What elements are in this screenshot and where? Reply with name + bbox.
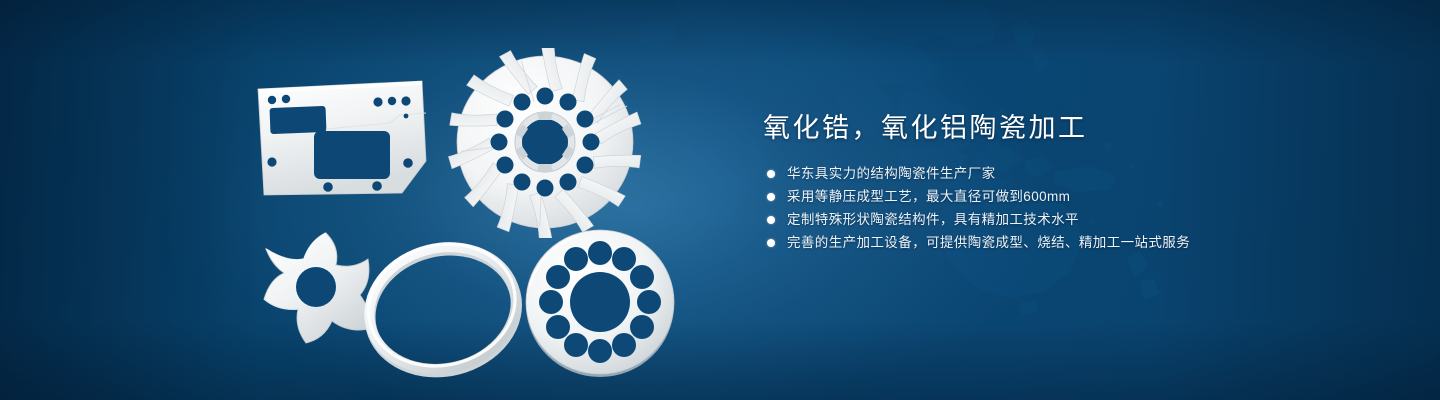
promo-banner: 氧化锆，氧化铝陶瓷加工 华东具实力的结构陶瓷件生产厂家 采用等静压成型工艺，最大… — [0, 0, 1440, 400]
ceramic-disc-image — [520, 225, 680, 380]
feature-item-label: 完善的生产加工设备，可提供陶瓷成型、烧结、精加工一站式服务 — [787, 231, 1190, 254]
product-photo-cluster — [230, 40, 700, 380]
bullet-dot-icon — [767, 239, 775, 247]
ceramic-ring-image — [358, 235, 528, 385]
bullet-dot-icon — [767, 216, 775, 224]
feature-item: 完善的生产加工设备，可提供陶瓷成型、烧结、精加工一站式服务 — [767, 231, 1383, 254]
feature-item-label: 定制特殊形状陶瓷结构件，具有精加工技术水平 — [787, 208, 1079, 231]
feature-list: 华东具实力的结构陶瓷件生产厂家 采用等静压成型工艺，最大直径可做到600mm 定… — [763, 162, 1383, 254]
bullet-dot-icon — [767, 193, 775, 201]
feature-item: 华东具实力的结构陶瓷件生产厂家 — [767, 162, 1383, 185]
feature-item-label: 华东具实力的结构陶瓷件生产厂家 — [787, 162, 996, 185]
ceramic-impeller-image — [445, 48, 645, 238]
feature-item: 采用等静压成型工艺，最大直径可做到600mm — [767, 185, 1383, 208]
banner-text-block: 氧化锆，氧化铝陶瓷加工 华东具实力的结构陶瓷件生产厂家 采用等静压成型工艺，最大… — [763, 108, 1383, 254]
feature-item: 定制特殊形状陶瓷结构件，具有精加工技术水平 — [767, 208, 1383, 231]
feature-item-label: 采用等静压成型工艺，最大直径可做到600mm — [787, 185, 1070, 208]
banner-headline: 氧化锆，氧化铝陶瓷加工 — [763, 108, 1383, 148]
bullet-dot-icon — [767, 170, 775, 178]
ceramic-plate-image — [250, 75, 440, 200]
